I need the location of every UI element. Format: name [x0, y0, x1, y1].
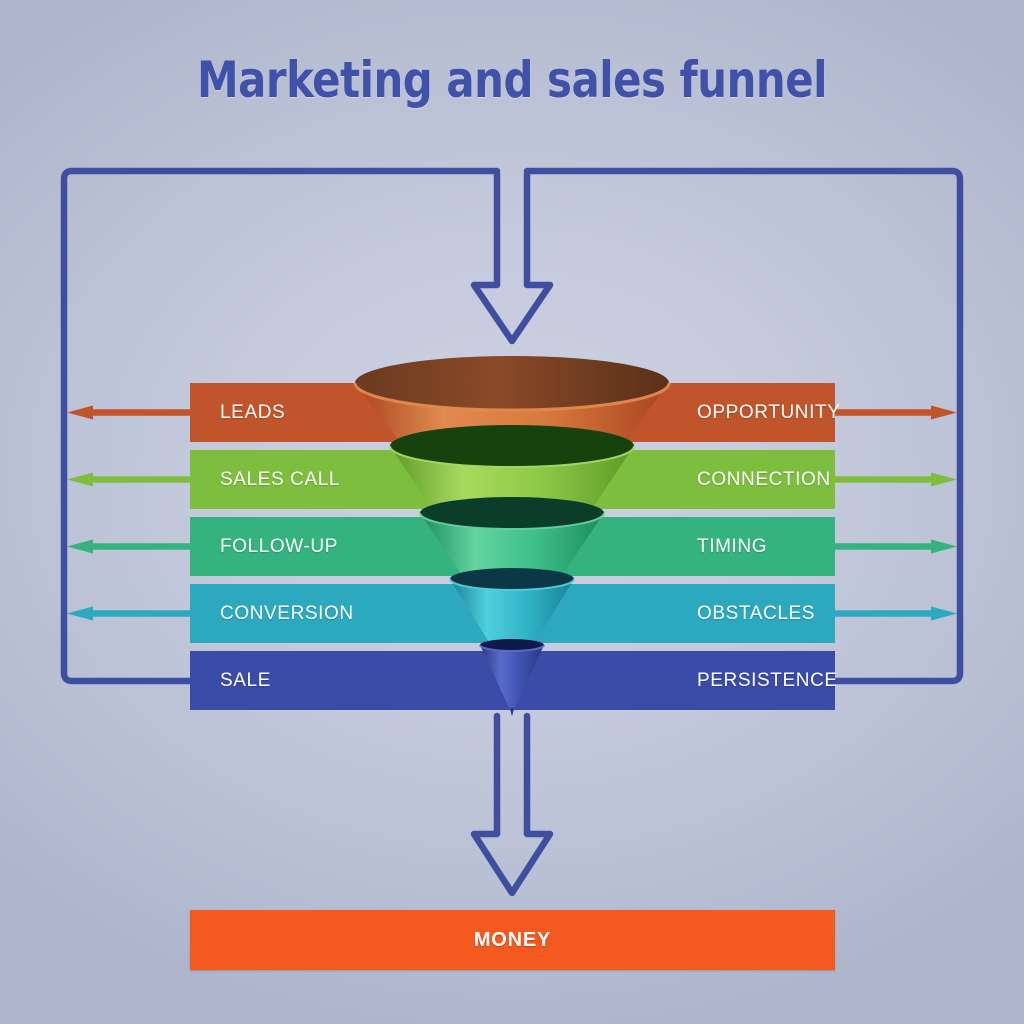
funnel-tip	[510, 708, 514, 715]
funnel-diagram: Marketing and sales funnel LEADSOPPORTUN…	[0, 0, 1024, 1024]
money-label: MONEY	[474, 929, 551, 952]
funnel-segment-3	[450, 568, 574, 651]
funnel-cone-graphic	[0, 0, 1024, 1024]
segment-body	[480, 645, 544, 716]
funnel-segment-4	[480, 639, 544, 716]
money-output-bar: MONEY	[190, 910, 835, 970]
